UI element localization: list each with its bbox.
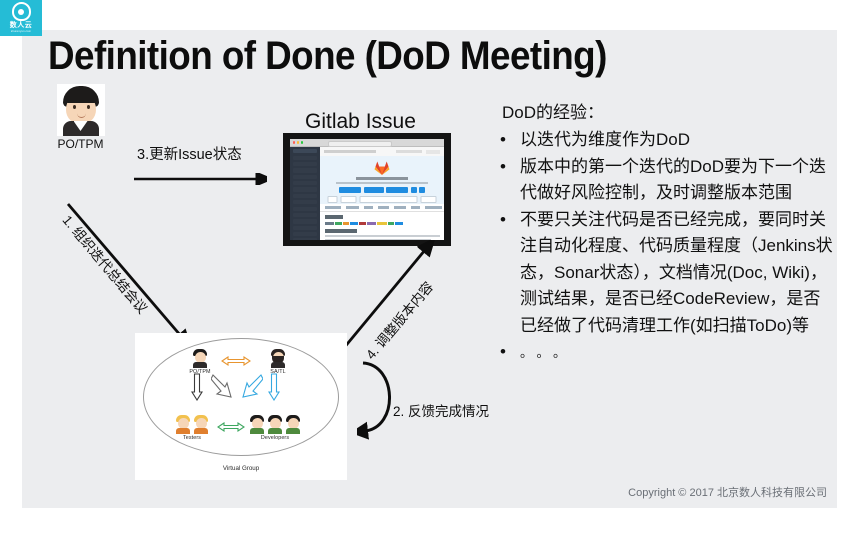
bullet-marker: • — [500, 127, 506, 154]
copyright-notice: Copyright © 2017 北京数人科技有限公司 — [628, 484, 827, 500]
vg-role-label: Testers — [175, 435, 209, 441]
list-item-text: 。。。 — [520, 345, 576, 360]
person-avatar-icon — [57, 84, 105, 136]
vg-role-po-tpm: PO/TPM — [183, 349, 217, 375]
right-arrow-icon — [134, 173, 267, 185]
brand-name-en: shurenyun.com — [11, 30, 31, 34]
virtual-group-diagram: PO/TPM SA/TL — [135, 333, 347, 480]
orange-double-arrow-icon — [221, 355, 251, 367]
brand-name-cn: 数人云 — [10, 22, 33, 30]
actor-po-tpm: PO/TPM — [53, 84, 108, 151]
gitlab-fox-icon — [374, 161, 390, 175]
virtual-group-caption: Virtual Group — [135, 465, 347, 472]
vg-role-label: Developers — [249, 435, 301, 441]
circular-loop-arrow-icon — [357, 355, 409, 440]
dod-bullet-list: • 以迭代为维度作为DoD • 版本中的第一个迭代的DoD要为下一个迭代做好风险… — [480, 127, 835, 367]
gitlab-screenshot — [283, 133, 451, 246]
list-item: • 版本中的第一个迭代的DoD要为下一个迭代做好风险控制，及时调整版本范围 — [480, 154, 835, 207]
list-item-text: 不要只关注代码是否已经完成，要同时关注自动化程度、代码质量程度（Jenkins状… — [520, 210, 833, 335]
dod-heading: DoD的经验： — [502, 100, 835, 125]
shurenyun-logo-icon — [12, 2, 31, 21]
list-item-text: 版本中的第一个迭代的DoD要为下一个迭代做好风险控制，及时调整版本范围 — [520, 157, 826, 203]
bullet-marker: • — [500, 339, 506, 366]
step3-label: 3.更新Issue状态 — [137, 143, 242, 164]
slide-canvas: Definition of Done (DoD Meeting) PO/TPM … — [22, 30, 837, 508]
vg-role-sa-tl: SA/TL — [261, 349, 295, 375]
green-double-arrow-icon — [217, 421, 245, 433]
vg-role-developers: Developers — [249, 415, 301, 441]
bullet-marker: • — [500, 154, 506, 181]
diagonal-down-arrow-gray-icon — [211, 373, 233, 399]
list-item: • 以迭代为维度作为DoD — [480, 127, 835, 154]
list-item: • 不要只关注代码是否已经完成，要同时关注自动化程度、代码质量程度（Jenkin… — [480, 207, 835, 340]
list-item: • 。。。 — [480, 339, 835, 367]
process-diagram: PO/TPM 3.更新Issue状态 Gitlab Issue — [22, 30, 472, 508]
diagonal-up-arrow-blue-icon — [239, 373, 263, 399]
bullet-marker: • — [500, 207, 506, 234]
down-arrow-dark-icon — [191, 373, 203, 401]
vg-role-testers: Testers — [175, 415, 209, 441]
list-item-text: 以迭代为维度作为DoD — [520, 130, 690, 149]
actor-label: PO/TPM — [53, 137, 108, 151]
dod-experience-pane: DoD的经验： • 以迭代为维度作为DoD • 版本中的第一个迭代的DoD要为下… — [480, 100, 835, 367]
step2-label: 2. 反馈完成情况 — [393, 400, 489, 420]
down-arrow-blue-icon — [268, 373, 280, 401]
brand-logo[interactable]: 数人云 shurenyun.com — [0, 0, 42, 36]
